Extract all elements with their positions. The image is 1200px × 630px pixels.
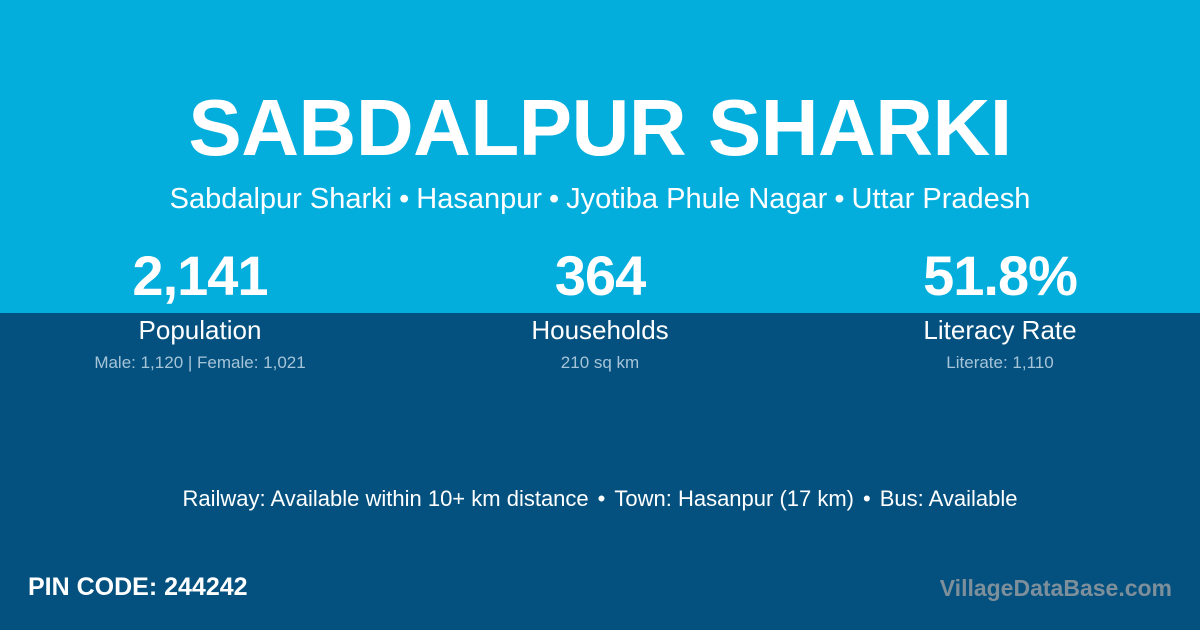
stats-row: 2,141 Population Male: 1,120 | Female: 1… [0, 245, 1200, 385]
pin-code: PIN CODE: 244242 [28, 570, 248, 604]
amenities-separator-2: • [854, 486, 880, 511]
amenities-separator-1: • [589, 486, 615, 511]
breadcrumb-district: Jyotiba Phule Nagar [566, 183, 827, 215]
breadcrumb-separator-3: • [827, 183, 851, 215]
stat-population-label: Population [0, 314, 400, 346]
breadcrumb-separator-1: • [392, 183, 416, 215]
site-watermark: VillageDataBase.com [940, 572, 1172, 604]
stat-literacy-rate-sub: Literate: 1,110 [800, 351, 1200, 375]
stat-households-sub: 210 sq km [400, 351, 800, 375]
stat-households: 364 Households 210 sq km [400, 245, 800, 385]
stat-literacy-rate-label: Literacy Rate [800, 314, 1200, 346]
amenity-railway: Railway: Available within 10+ km distanc… [182, 486, 588, 511]
stat-population-sub: Male: 1,120 | Female: 1,021 [0, 351, 400, 375]
breadcrumb-block: Hasanpur [416, 183, 542, 215]
amenities-line: Railway: Available within 10+ km distanc… [0, 483, 1200, 515]
stat-households-value: 364 [400, 245, 800, 307]
breadcrumb: Sabdalpur Sharki•Hasanpur•Jyotiba Phule … [0, 181, 1200, 217]
stat-literacy-rate: 51.8% Literacy Rate Literate: 1,110 [800, 245, 1200, 385]
amenity-town: Town: Hasanpur (17 km) [614, 486, 854, 511]
village-info-card: SABDALPUR SHARKI Sabdalpur Sharki•Hasanp… [0, 0, 1200, 630]
breadcrumb-separator-2: • [542, 183, 566, 215]
breadcrumb-state: Uttar Pradesh [851, 183, 1030, 215]
amenity-bus: Bus: Available [880, 486, 1018, 511]
stat-literacy-rate-value: 51.8% [800, 245, 1200, 307]
stat-population: 2,141 Population Male: 1,120 | Female: 1… [0, 245, 400, 385]
stat-population-value: 2,141 [0, 245, 400, 307]
page-title: SABDALPUR SHARKI [0, 83, 1200, 173]
breadcrumb-village: Sabdalpur Sharki [170, 183, 392, 215]
footer: PIN CODE: 244242 VillageDataBase.com [0, 570, 1200, 616]
stat-households-label: Households [400, 314, 800, 346]
